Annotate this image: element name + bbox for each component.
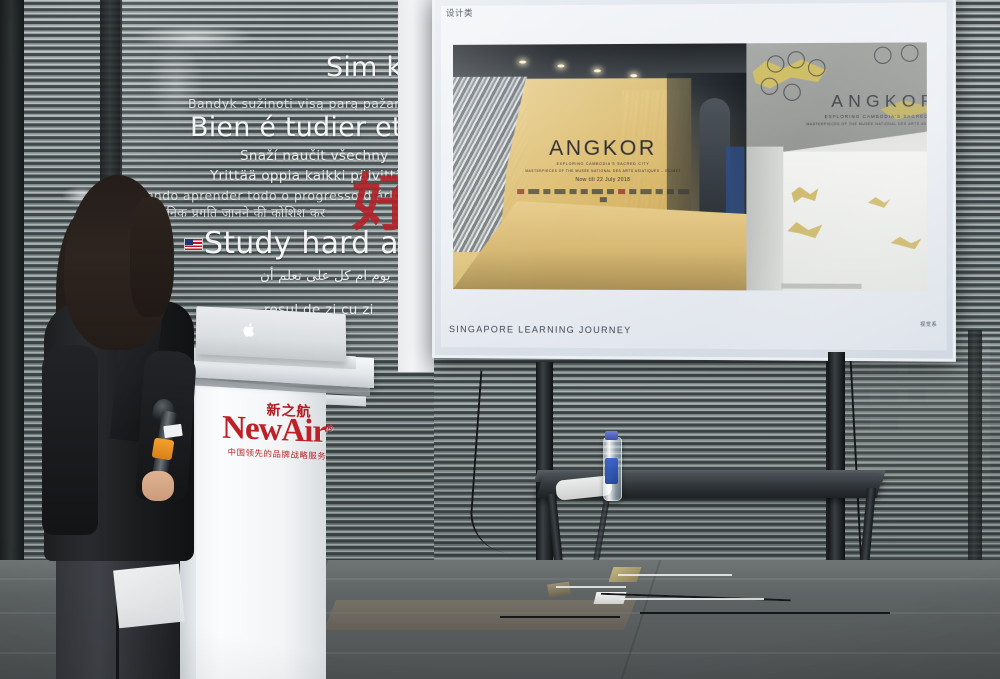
apple-logo-icon xyxy=(243,322,257,338)
angkor-credit: MASTERPIECES OF THE MUSÉE NATIONAL DES A… xyxy=(513,169,693,173)
printed-notes xyxy=(113,564,185,629)
angkor-dates: Now till 22 July 2018 xyxy=(513,177,693,183)
window-mullion-5 xyxy=(968,330,982,566)
photo-angkor-gold-wall: ANGKOR EXPLORING CAMBODIA'S SACRED CITY … xyxy=(453,43,746,290)
slide-photo-pair: ANGKOR EXPLORING CAMBODIA'S SACRED CITY … xyxy=(453,42,927,291)
newair-logo-plate: 新之航 NewAir® 中国领先的品牌战略服务 xyxy=(219,401,335,490)
name-badge xyxy=(163,424,182,438)
glass-line-2: Bien é tudier et a xyxy=(190,112,428,143)
registered-mark: ® xyxy=(326,422,332,432)
tv-stand-post-left xyxy=(536,362,553,576)
newair-wordmark: NewAir xyxy=(222,410,326,451)
presenter-arm-left xyxy=(42,345,98,535)
presentation-photo-scene: Sim kom p Bandyk sužinoti visą parą paža… xyxy=(0,0,1000,679)
white-wall-strip xyxy=(398,0,434,372)
presentation-slide: 设计类 ANGK xyxy=(441,2,947,350)
angkor-poster-right: ANGKOR EXPLORING CAMBODIA'S SACRED CITY … xyxy=(800,92,927,126)
slide-corner-mark: 视觉系 xyxy=(920,321,937,328)
bottle-cap xyxy=(605,431,618,440)
newair-brand-en: NewAir® xyxy=(219,412,335,448)
angkor-subtitle-2: EXPLORING CAMBODIA'S SACRED CITY xyxy=(800,113,927,118)
hair-front xyxy=(130,197,174,317)
bottle-label xyxy=(605,458,618,484)
presenter xyxy=(20,175,230,679)
glass-line-3: Snaží naučit všechny xyxy=(240,148,389,164)
floor-cable-white-2 xyxy=(620,598,764,624)
presenter-hand xyxy=(142,471,174,501)
glass-line-1: Bandyk sužinoti visą parą pažangą xyxy=(188,96,419,111)
photo-angkor-grey-wall: ANGKOR EXPLORING CAMBODIA'S SACRED CITY … xyxy=(746,42,926,291)
angkor-credit-2: MASTERPIECES OF THE MUSÉE NATIONAL DES A… xyxy=(800,122,927,126)
angkor-wordmark-2: ANGKOR xyxy=(800,92,927,110)
tv-stand-post-right xyxy=(828,352,845,574)
wall-monitor[interactable]: 设计类 ANGK xyxy=(432,0,956,362)
angkor-subtitle: EXPLORING CAMBODIA'S SACRED CITY xyxy=(513,162,693,166)
sponsor-logo-row xyxy=(513,189,693,202)
slide-footer-text: SINGAPORE LEARNING JOURNEY xyxy=(449,324,632,335)
angkor-wordmark: ANGKOR xyxy=(513,137,693,158)
slide-title-cn: 设计类 xyxy=(446,7,473,19)
glass-line-8: يوم ام كل على تعلم أن xyxy=(260,268,390,284)
angkor-poster-left: ANGKOR EXPLORING CAMBODIA'S SACRED CITY … xyxy=(513,137,693,202)
microphone-grip xyxy=(152,438,175,461)
